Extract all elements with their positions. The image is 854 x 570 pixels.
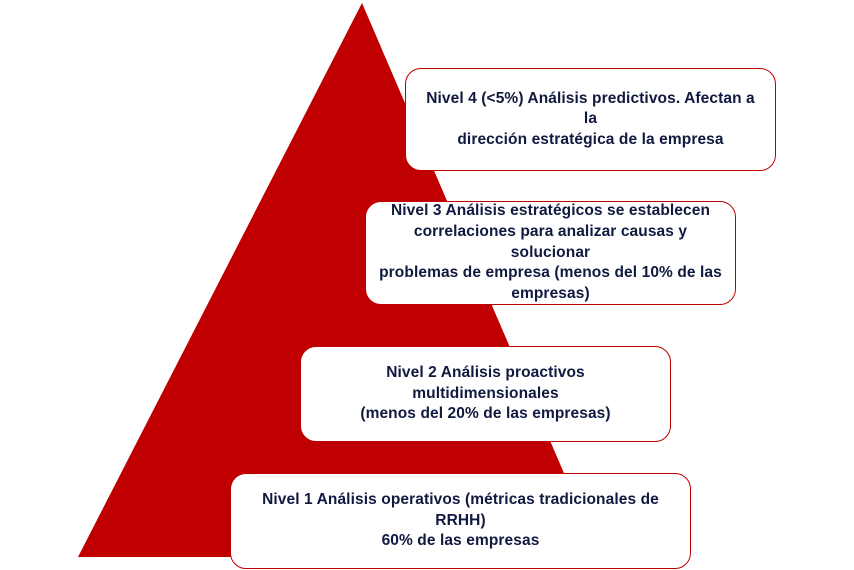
callout-level-2[interactable]: Nivel 2 Análisis proactivos multidimensi… — [300, 346, 671, 442]
callout-level-1-label: Nivel 1 Análisis operativos (métricas tr… — [243, 490, 678, 552]
callout-level-1[interactable]: Nivel 1 Análisis operativos (métricas tr… — [230, 473, 691, 569]
diagram-canvas: Nivel 4 (<5%) Análisis predictivos. Afec… — [0, 0, 854, 570]
callout-level-4[interactable]: Nivel 4 (<5%) Análisis predictivos. Afec… — [405, 68, 776, 171]
callout-level-4-label: Nivel 4 (<5%) Análisis predictivos. Afec… — [418, 89, 763, 151]
callout-level-3[interactable]: Nivel 3 Análisis estratégicos se estable… — [365, 201, 736, 305]
callout-level-3-label: Nivel 3 Análisis estratégicos se estable… — [378, 201, 723, 304]
callout-level-2-label: Nivel 2 Análisis proactivos multidimensi… — [313, 363, 658, 425]
